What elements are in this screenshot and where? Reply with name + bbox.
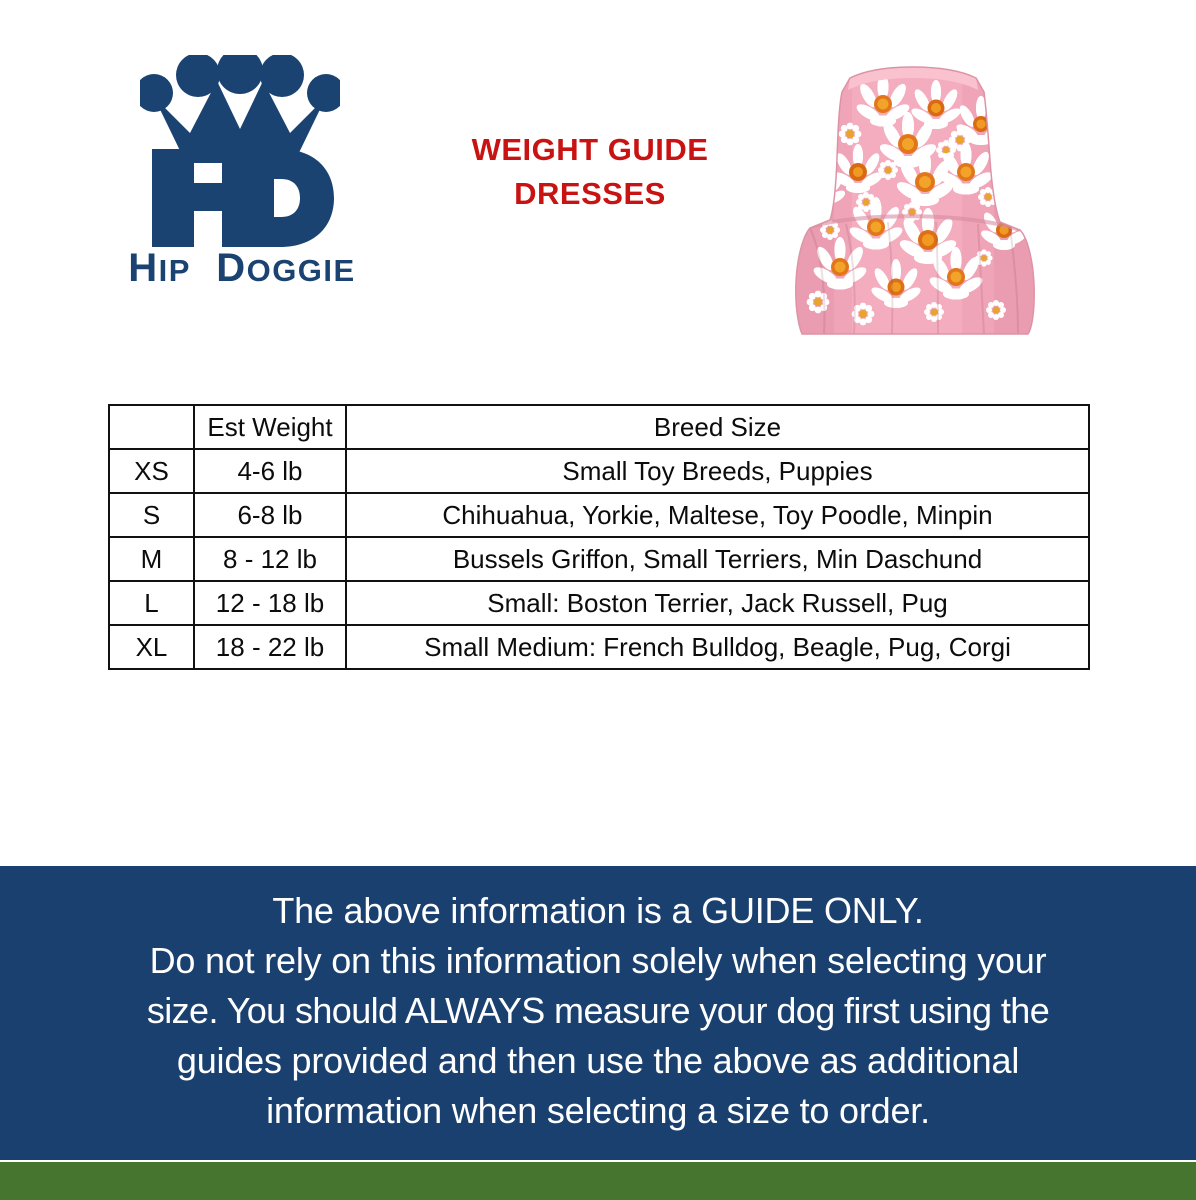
- cell-breed-xs: Small Toy Breeds, Puppies: [346, 449, 1089, 493]
- cell-breed-m: Bussels Griffon, Small Terriers, Min Das…: [346, 537, 1089, 581]
- cell-size-s: S: [109, 493, 194, 537]
- notice-line-2: Do not rely on this information solely w…: [150, 936, 1047, 986]
- notice-line-1: The above information is a GUIDE ONLY.: [272, 886, 923, 936]
- column-header-size: [109, 405, 194, 449]
- table-header-row: Est Weight Breed Size: [109, 405, 1089, 449]
- weight-guide-table-wrapper: Est Weight Breed Size XS 4-6 lb Small To…: [108, 404, 1088, 670]
- page-title-line-1: WEIGHT GUIDE: [400, 128, 780, 172]
- header-section: HIP DOGGIE WEIGHT GUIDE DRESSES: [0, 0, 1196, 340]
- table-body: XS 4-6 lb Small Toy Breeds, Puppies S 6-…: [109, 449, 1089, 669]
- guide-only-notice: The above information is a GUIDE ONLY. D…: [0, 866, 1196, 1160]
- cell-weight-m: 8 - 12 lb: [194, 537, 346, 581]
- hd-monogram: [148, 143, 338, 253]
- table-row: L 12 - 18 lb Small: Boston Terrier, Jack…: [109, 581, 1089, 625]
- brand-name-doggie-rest: OGGIE: [247, 253, 356, 288]
- page-title-line-2: DRESSES: [400, 172, 780, 216]
- cell-breed-xl: Small Medium: French Bulldog, Beagle, Pu…: [346, 625, 1089, 669]
- cell-breed-s: Chihuahua, Yorkie, Maltese, Toy Poodle, …: [346, 493, 1089, 537]
- table-row: XL 18 - 22 lb Small Medium: French Bulld…: [109, 625, 1089, 669]
- cell-weight-xs: 4-6 lb: [194, 449, 346, 493]
- product-image-pink-daisy-dress: [788, 62, 1038, 340]
- notice-line-5: information when selecting a size to ord…: [266, 1086, 930, 1136]
- table-row: S 6-8 lb Chihuahua, Yorkie, Maltese, Toy…: [109, 493, 1089, 537]
- table-head: Est Weight Breed Size: [109, 405, 1089, 449]
- weight-guide-table: Est Weight Breed Size XS 4-6 lb Small To…: [108, 404, 1090, 670]
- cell-size-l: L: [109, 581, 194, 625]
- page-title: WEIGHT GUIDE DRESSES: [400, 128, 780, 216]
- notice-line-4: guides provided and then use the above a…: [177, 1036, 1019, 1086]
- column-header-weight: Est Weight: [194, 405, 346, 449]
- column-header-breed: Breed Size: [346, 405, 1089, 449]
- cell-weight-s: 6-8 lb: [194, 493, 346, 537]
- notice-line-3: size. You should ALWAYS measure your dog…: [147, 986, 1049, 1036]
- cell-size-m: M: [109, 537, 194, 581]
- brand-logo: HIP DOGGIE: [92, 55, 392, 295]
- cell-weight-l: 12 - 18 lb: [194, 581, 346, 625]
- cell-size-xl: XL: [109, 625, 194, 669]
- brand-name: HIP DOGGIE: [92, 245, 392, 294]
- brand-name-hip-rest: IP: [159, 253, 191, 288]
- cell-breed-l: Small: Boston Terrier, Jack Russell, Pug: [346, 581, 1089, 625]
- weight-guide-page: HIP DOGGIE WEIGHT GUIDE DRESSES: [0, 0, 1196, 1200]
- footer-green-strip: [0, 1162, 1196, 1200]
- table-row: M 8 - 12 lb Bussels Griffon, Small Terri…: [109, 537, 1089, 581]
- brand-name-doggie: D: [216, 246, 246, 290]
- cell-size-xs: XS: [109, 449, 194, 493]
- table-row: XS 4-6 lb Small Toy Breeds, Puppies: [109, 449, 1089, 493]
- cell-weight-xl: 18 - 22 lb: [194, 625, 346, 669]
- brand-name-hip: H: [128, 246, 158, 290]
